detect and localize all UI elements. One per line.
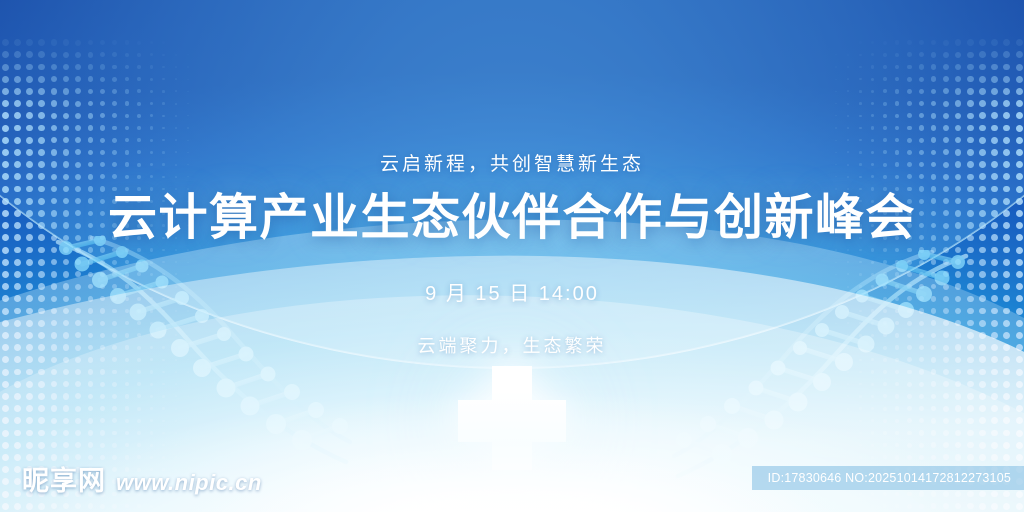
cross-horizontal-bar <box>458 400 566 442</box>
banner-text-block: 云启新程，共创智慧新生态 云计算产业生态伙伴合作与创新峰会 9 月 15 日 1… <box>0 152 1024 358</box>
banner-tagline: 云端聚力，生态繁荣 <box>0 332 1024 358</box>
conference-banner: 云启新程，共创智慧新生态 云计算产业生态伙伴合作与创新峰会 9 月 15 日 1… <box>0 0 1024 512</box>
banner-date: 9 月 15 日 14:00 <box>0 277 1024 306</box>
banner-title: 云计算产业生态伙伴合作与创新峰会 <box>0 190 1024 248</box>
watermark-logo: 昵享网 <box>22 459 106 498</box>
watermark-url: www.nipic.cn <box>116 470 262 496</box>
watermark: 昵享网 www.nipic.cn <box>22 459 262 498</box>
banner-subtitle: 云启新程，共创智慧新生态 <box>0 152 1024 179</box>
stock-id-badge: ID:17830646 NO:20251014172812273105 <box>752 466 1024 490</box>
medical-cross-icon <box>458 366 566 470</box>
